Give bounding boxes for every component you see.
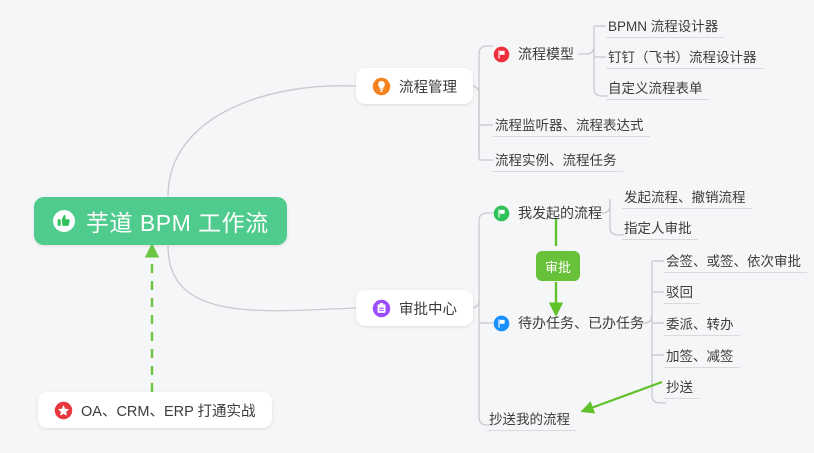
label-process-instance-task: 流程实例、流程任务 [495, 149, 617, 169]
leaf-reject[interactable]: 驳回 [664, 278, 699, 304]
branch-node-approval-center[interactable]: 审批中心 [356, 290, 473, 326]
node-my-initiated-process[interactable]: 我发起的流程 [493, 201, 602, 225]
label-todo-done-tasks: 待办任务、已办任务 [518, 313, 644, 333]
star-icon [54, 401, 73, 420]
leaf-delegate-transfer[interactable]: 委派、转办 [664, 310, 740, 336]
branch-label-approval-center: 审批中心 [399, 298, 457, 319]
connector-model-corner-top [578, 46, 594, 54]
node-process-model[interactable]: 流程模型 [493, 42, 574, 66]
flag-icon [493, 315, 510, 332]
connector-ac-spine [479, 221, 493, 425]
root-label: 芋道 BPM 工作流 [86, 204, 269, 238]
label-process-listener-expression: 流程监听器、流程表达式 [495, 114, 644, 134]
thumbs-up-icon [52, 209, 76, 233]
label-my-initiated-process: 我发起的流程 [518, 203, 602, 223]
label-cc: 抄送 [666, 376, 693, 396]
label-reject: 驳回 [666, 281, 693, 301]
leaf-cc[interactable]: 抄送 [664, 373, 699, 399]
leaf-process-instance-task[interactable]: 流程实例、流程任务 [493, 146, 623, 172]
label-assignee-approval: 指定人审批 [624, 217, 692, 237]
connector-root-to-process-management [168, 86, 356, 196]
label-countersign-or-sequential: 会签、或签、依次审批 [666, 250, 801, 270]
leaf-assignee-approval[interactable]: 指定人审批 [622, 214, 698, 240]
flag-icon [493, 205, 510, 222]
label-start-cancel-process: 发起流程、撤销流程 [624, 186, 746, 206]
clipboard-icon [372, 299, 391, 318]
label-add-remove-sign: 加签、减签 [666, 345, 734, 365]
leaf-bpmn-designer[interactable]: BPMN 流程设计器 [606, 12, 724, 38]
label-dingtalk-feishu-designer: 钉钉（飞书）流程设计器 [608, 46, 757, 66]
label-custom-process-form: 自定义流程表单 [608, 77, 703, 97]
connector-pm-to-model-corner [479, 46, 493, 54]
footnote-label: OA、CRM、ERP 打通实战 [81, 400, 256, 421]
flag-icon [493, 46, 510, 63]
leaf-cc-to-me-process[interactable]: 抄送我的流程 [487, 405, 576, 431]
root-node[interactable]: 芋道 BPM 工作流 [34, 197, 287, 245]
leaf-custom-process-form[interactable]: 自定义流程表单 [606, 74, 709, 100]
lightbulb-icon [372, 77, 391, 96]
node-todo-done-tasks[interactable]: 待办任务、已办任务 [493, 311, 644, 335]
branch-label-process-management: 流程管理 [399, 76, 457, 97]
label-delegate-transfer: 委派、转办 [666, 313, 734, 333]
connector-root-to-approval-center [168, 246, 356, 311]
label-cc-to-me-process: 抄送我的流程 [489, 408, 570, 428]
footnote-node[interactable]: OA、CRM、ERP 打通实战 [38, 392, 272, 428]
leaf-add-remove-sign[interactable]: 加签、减签 [664, 342, 740, 368]
leaf-start-cancel-process[interactable]: 发起流程、撤销流程 [622, 183, 752, 209]
leaf-dingtalk-feishu-designer[interactable]: 钉钉（飞书）流程设计器 [606, 43, 763, 69]
branch-node-process-management[interactable]: 流程管理 [356, 68, 473, 104]
arrow-cc-to-ccme [583, 382, 662, 411]
leaf-countersign-or-sequential[interactable]: 会签、或签、依次审批 [664, 247, 807, 273]
connector-ac-to-initiated [479, 213, 493, 221]
leaf-process-listener-expression[interactable]: 流程监听器、流程表达式 [493, 111, 650, 137]
mindmap-canvas: 芋道 BPM 工作流 OA、CRM、ERP 打通实战 流程管理 [0, 0, 814, 453]
approval-tag[interactable]: 审批 [536, 251, 580, 281]
label-bpmn-designer: BPMN 流程设计器 [608, 15, 718, 35]
approval-tag-label: 审批 [545, 257, 571, 276]
label-process-model: 流程模型 [518, 44, 574, 64]
